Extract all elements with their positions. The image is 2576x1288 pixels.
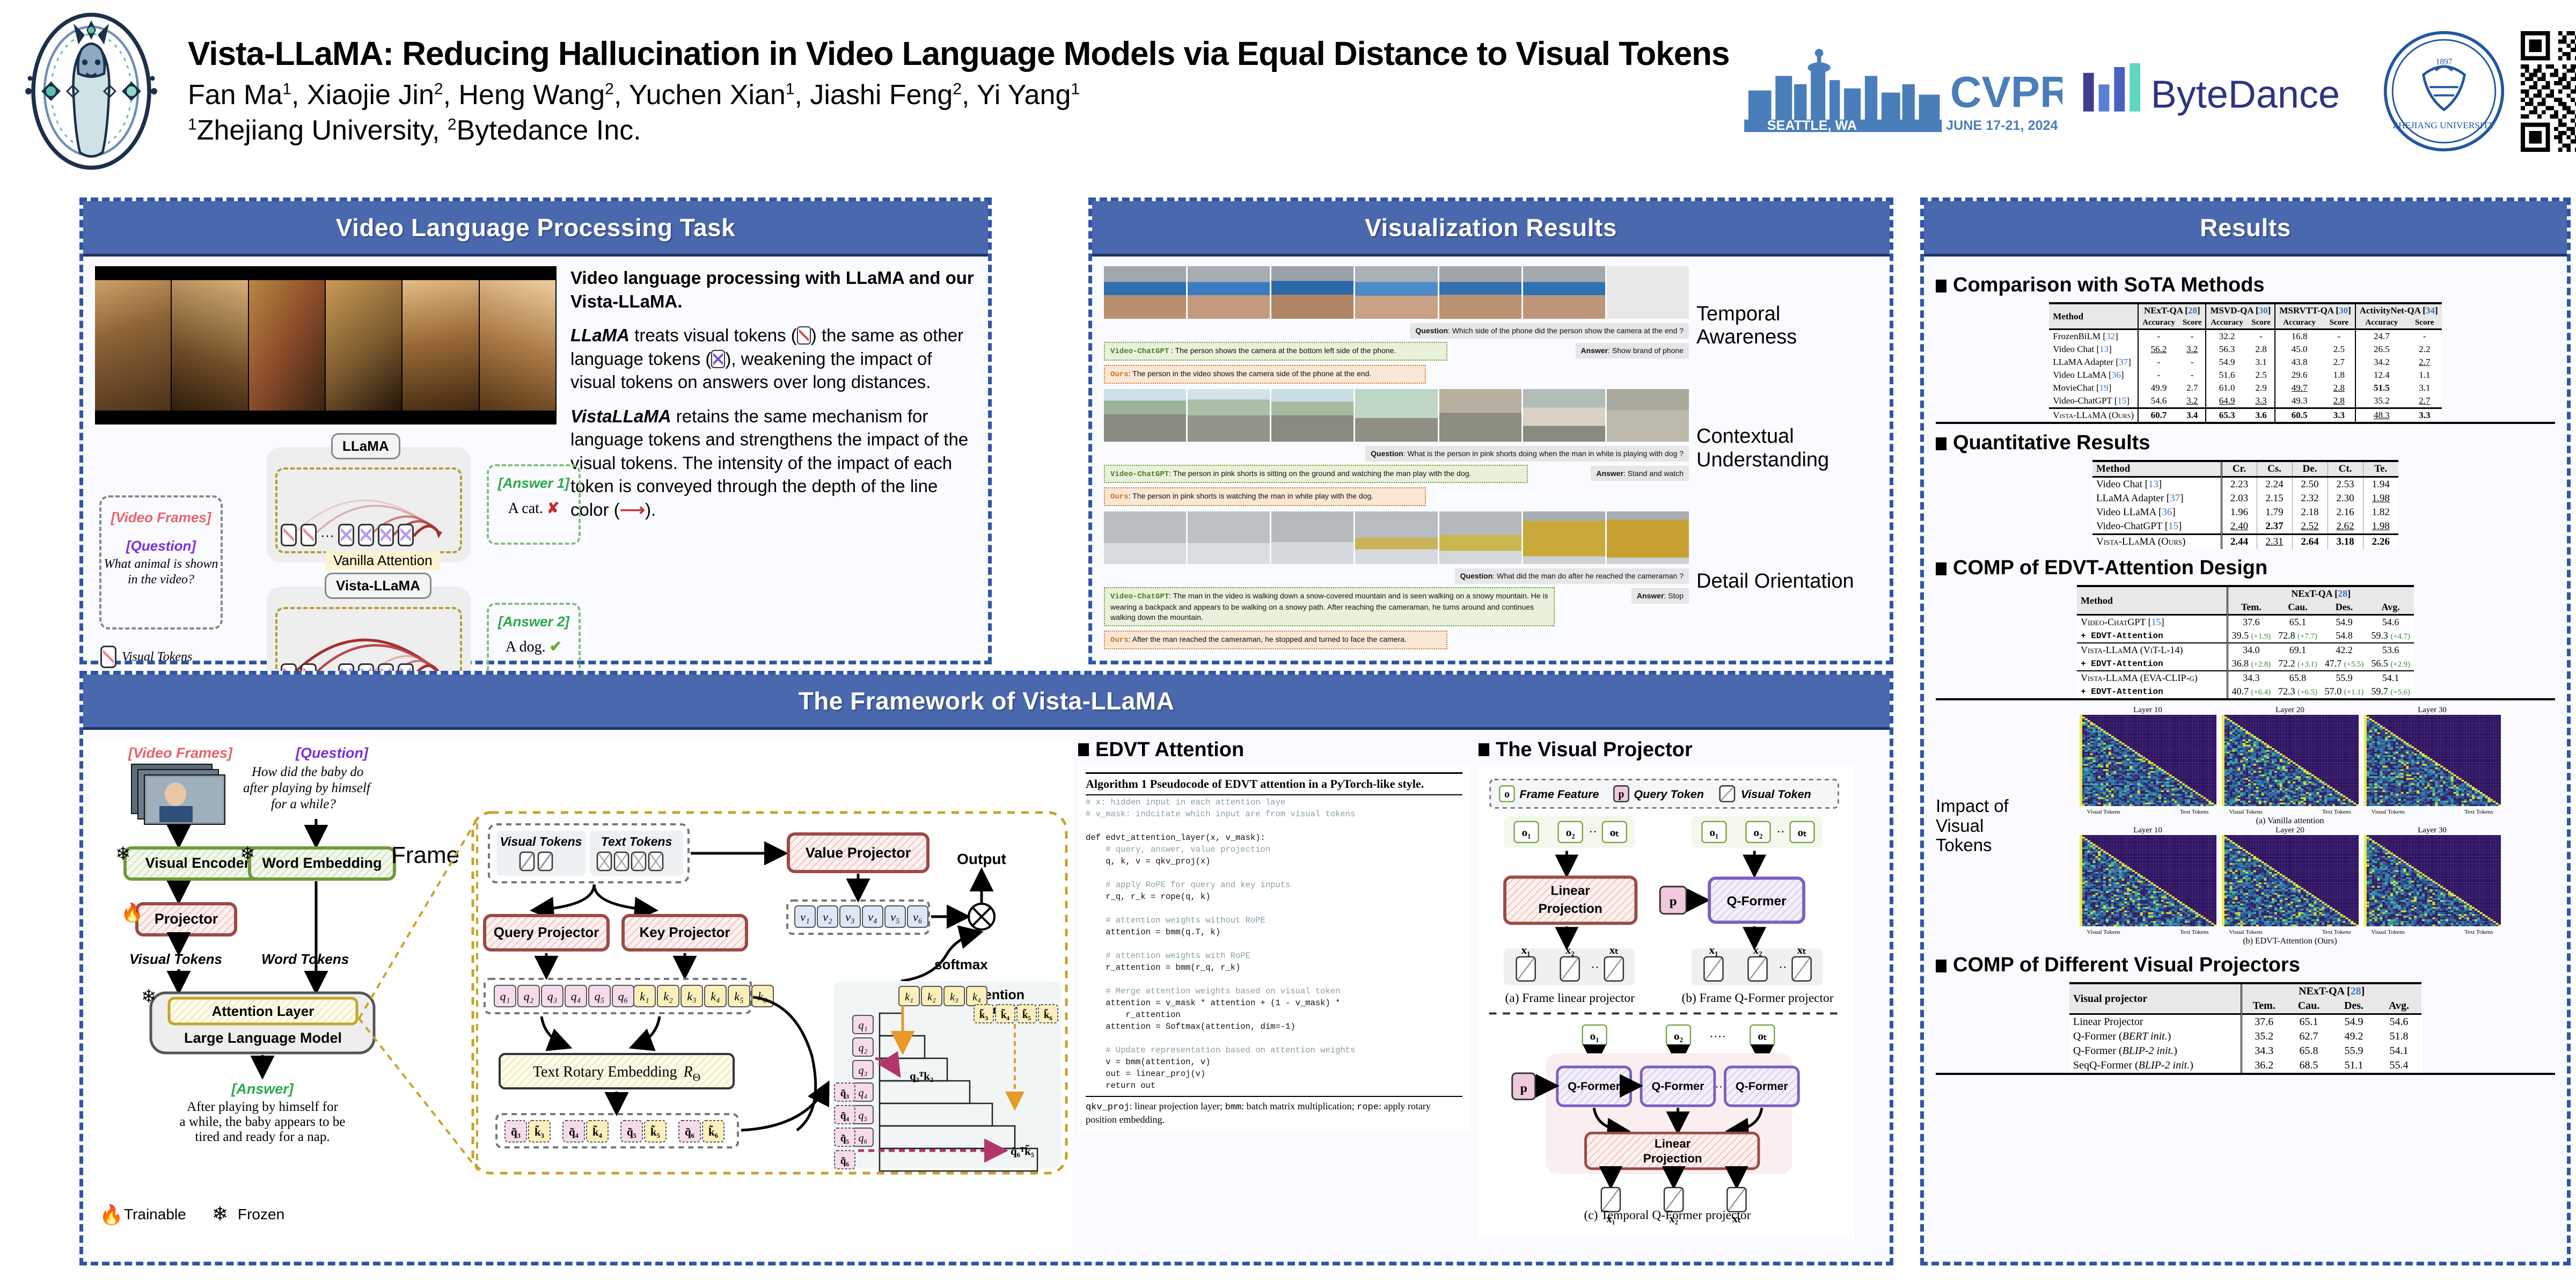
- example-1-question: Question: Which side of the phone did th…: [1410, 323, 1689, 339]
- check-mark-icon: ✔: [550, 639, 562, 655]
- heatmap-image: [2080, 835, 2216, 926]
- table-sota: MethodNExT-QA [28]MSVD-QA [30]MSRVTT-QA …: [1936, 302, 2555, 424]
- fw-llm: Large Language Model: [184, 1030, 342, 1046]
- fw-legend-trainable: Trainable: [124, 1206, 186, 1223]
- projector-caption-b: (b) Frame Q-Former projector: [1681, 991, 1833, 1005]
- table-row: SeqQ-Former (BLIP-2 init.)36.268.551.155…: [2069, 1058, 2421, 1073]
- bullet-square-icon: [1936, 437, 1946, 450]
- table-row: + EDVT-Attention39.5 (+1.9)72.8 (+7.7)54…: [2077, 629, 2414, 643]
- projector-svg: o Frame Feature p Query Token Visual Tok…: [1483, 770, 1850, 1232]
- llama-emphasis: LLaMA: [570, 325, 630, 345]
- bullet-square-icon: [1936, 562, 1946, 575]
- vanilla-token-row: ···: [281, 524, 414, 546]
- answer-1-label: [Answer 1]: [489, 475, 579, 492]
- example-2-frames: [1104, 389, 1689, 442]
- example-2-gpt-response: Video-ChatGPT: The person in pink shorts…: [1104, 465, 1528, 484]
- group-3: ActivityNet-QA [34]: [2355, 303, 2442, 317]
- example-3-gpt-response: Video-ChatGPT: The man in the video is w…: [1104, 587, 1555, 626]
- projector-table: Visual projectorNExT-QA [28]Tem.Cau.Des.…: [2069, 982, 2421, 1073]
- panel-title-visualization: Visualization Results: [1092, 201, 1890, 257]
- visualization-example-3: Question: What did the man do after he r…: [1104, 511, 1878, 651]
- example-1-answer: Answer: Show brand of phone: [1576, 343, 1689, 358]
- heatmap-caption-b: (b) EDVT-Attention (Ours): [2025, 936, 2555, 946]
- poster-root: Vista-LLaMA: Reducing Hallucination in V…: [0, 0, 2576, 1288]
- example-2-answer: Answer: Stand and watch: [1591, 466, 1689, 481]
- example-1-frames: [1104, 266, 1689, 319]
- legend-query-token: Query Token: [1634, 788, 1704, 801]
- task-paragraph-2: LLaMA treats visual tokens () the same a…: [570, 324, 976, 394]
- panel-body-framework: [Video Frames] [Question] How did the ba…: [83, 730, 1890, 1265]
- projector-figure: o Frame Feature p Query Token Visual Tok…: [1479, 766, 1854, 1239]
- table-row: Video-ChatGPT [15]54.63.264.93.349.32.83…: [2049, 394, 2441, 408]
- section-heading-projectors: COMP of Different Visual Projectors: [1936, 954, 2555, 977]
- quant-table: MethodCr.Cs.De.Ct.Te.Video Chat [13]2.23…: [2092, 460, 2398, 549]
- edvt-algorithm-block: EDVT Attention Algorithm 1 Pseudocode of…: [1078, 738, 1470, 1256]
- heatmap-image: [2364, 835, 2501, 926]
- fw-value-projector: Value Projector: [806, 845, 911, 861]
- vanilla-attention-group: LLaMA: [267, 447, 471, 562]
- task-paragraph-3: VistaLLaMA retains the same mechanism fo…: [570, 405, 976, 522]
- bullet-square-icon: [1936, 960, 1946, 972]
- section-heading-quant: Quantitative Results: [1936, 431, 2555, 455]
- fw-rotary-token-row: q̃₃k̃₃q̃₄k̃₄q̃₅k̃₅q̃₆k̃₆: [505, 1121, 724, 1142]
- bullet-square-icon: [1078, 743, 1089, 756]
- table-row: Vista-LLaMA (Ours)2.442.312.643.182.26: [2092, 535, 2398, 550]
- heatmap-image: [2222, 715, 2359, 806]
- example-3-tag: Detail Orientation: [1696, 570, 1857, 594]
- legend-visual-token: Visual Token: [1741, 788, 1811, 801]
- filmstrip-perforations-top: [95, 266, 557, 280]
- table-row: Vista-LLaMA (ViT-L-14)34.069.142.253.6: [2077, 643, 2414, 657]
- heatmap-row-vanilla: Layer 10Visual TokensText TokensLayer 20…: [2025, 706, 2555, 815]
- table-row: Video Chat [13]2.232.242.502.531.94: [2092, 477, 2398, 492]
- example-3-frames: [1104, 511, 1689, 564]
- table-row: MovieChat [19]49.92.761.02.949.72.851.53…: [2049, 382, 2441, 394]
- table-row: FrozenBiLM [32]--32.2-16.8-24.7-: [2049, 330, 2441, 343]
- task-description-column: Video language processing with LLaMA and…: [570, 266, 976, 710]
- cvpr-dates: JUNE 17-21, 2024: [1946, 118, 2058, 133]
- fw-text-tokens-2: Text Tokens: [601, 835, 672, 848]
- flame-icon: 🔥: [121, 902, 143, 923]
- filmstrip-perforations-bottom: [95, 411, 557, 425]
- panel-body-task: [Video Frames] [Question] What animal is…: [83, 257, 988, 720]
- example-2-ours-response: Ours: The person in pink shorts is watch…: [1104, 487, 1426, 506]
- dot-product-1: q₃ᵀk₂: [910, 1070, 933, 1082]
- example-3-answer: Answer: Stop: [1631, 588, 1689, 604]
- fw-word-embedding: Word Embedding: [262, 855, 382, 871]
- video-filmstrip: [95, 266, 557, 425]
- table-edvt-design: MethodNExT-QA [28]Tem.Cau.Des.Avg.Video-…: [1936, 585, 2555, 700]
- llama-box: LLaMA: [331, 433, 400, 459]
- vistallama-emphasis: VistaLLaMA: [570, 406, 671, 426]
- projector-caption-a: (a) Frame linear projector: [1505, 991, 1635, 1005]
- cross-mark-icon: ✘: [547, 500, 559, 517]
- impact-label: Impact of Visual Tokens: [1936, 796, 2022, 856]
- fw-word-tokens: Word Tokens: [261, 951, 349, 967]
- table-row: Q-Former (BERT init.)35.262.749.251.8: [2069, 1029, 2421, 1044]
- fw-query-token-row: q₁q₂q₃q₄q₅q₆: [494, 985, 634, 1007]
- visual-projector-block: The Visual Projector o: [1479, 738, 1854, 1256]
- algorithm-footnote: qkv_proj: linear projection layer; bmm: …: [1086, 1100, 1462, 1125]
- bullet-square-icon: [1479, 743, 1489, 756]
- flame-icon: 🔥: [99, 1204, 123, 1226]
- affiliation-list: 1Zhejiang University, 2Bytedance Inc.: [188, 114, 1730, 147]
- bytedance-text: ByteDance: [2150, 74, 2339, 116]
- table-row: Vista-LLaMA (Ours)60.73.465.33.660.53.34…: [2049, 408, 2441, 422]
- heatmap-image: [2364, 715, 2501, 806]
- logo-group: CVPR SEATTLE, WA JUNE 17-21, 2024 ByteDa…: [1730, 30, 2576, 153]
- heatmap-axis: Visual TokensText Tokens: [2080, 809, 2216, 815]
- heatmap-layer-title: Layer 20: [2222, 826, 2359, 835]
- attention-comparison-diagram: [Video Frames] [Question] What animal is…: [95, 431, 557, 710]
- table-visual-projectors: Visual projectorNExT-QA [28]Tem.Cau.Des.…: [1936, 982, 2555, 1075]
- heatmap-axis: Visual TokensText Tokens: [2364, 809, 2501, 815]
- answer-1-text: A cat.: [508, 500, 543, 517]
- heatmap-image: [2080, 715, 2216, 806]
- framework-diagram: [Video Frames] [Question] How did the ba…: [91, 738, 1073, 1256]
- answer-2-text: A dog.: [506, 639, 546, 655]
- fw-value-token-row: v₁v₂v₃v₄v₅v₆: [795, 906, 928, 927]
- question-label: [Question]: [101, 538, 221, 554]
- panel-results: Results Comparison with SoTA Methods Met…: [1920, 197, 2571, 1265]
- example-1-ours-response: Ours: The person in the video shows the …: [1104, 365, 1426, 384]
- heatmap-layer-title: Layer 10: [2080, 706, 2216, 715]
- fw-video-frames-thumbs: [131, 764, 225, 824]
- page-title: Vista-LLaMA: Reducing Hallucination in V…: [188, 36, 1730, 72]
- heatmap-axis: Visual TokensText Tokens: [2222, 809, 2359, 815]
- zju-year: 1897: [2435, 57, 2452, 67]
- heatmap-row-edvt: Layer 10Visual TokensText TokensLayer 20…: [2025, 826, 2555, 935]
- table-row: + EDVT-Attention40.7 (+6.4)72.3 (+6.5)57…: [2077, 685, 2414, 698]
- table-row: Video Chat [13]56.23.256.32.845.02.526.5…: [2049, 343, 2441, 356]
- group-0: NExT-QA [28]: [2138, 303, 2206, 317]
- section-heading-sota: Comparison with SoTA Methods: [1936, 274, 2555, 297]
- question-text: What animal is shown in the video?: [101, 557, 221, 588]
- snowflake-icon: ❄: [141, 986, 157, 1007]
- fw-visual-encoder: Visual Encoder: [145, 855, 250, 871]
- snowflake-icon: ❄: [212, 1203, 228, 1225]
- title-block: Vista-LLaMA: Reducing Hallucination in V…: [188, 36, 1730, 147]
- heatmap-cell: Layer 10Visual TokensText Tokens: [2080, 706, 2216, 815]
- bytedance-logo-icon: ByteDance: [2077, 59, 2367, 123]
- panel-framework: The Framework of Vista-LLaMA: [79, 671, 1893, 1265]
- task-figure-column: [Video Frames] [Question] What animal is…: [95, 266, 557, 710]
- example-3-ours-response: Ours: After the man reached the camerama…: [1104, 631, 1447, 649]
- algorithm-code: # x: hidden input in each attention laye…: [1086, 796, 1462, 1092]
- heatmap-cell: Layer 30Visual TokensText Tokens: [2364, 706, 2501, 815]
- algorithm-card: Algorithm 1 Pseudocode of EDVT attention…: [1078, 766, 1470, 1131]
- algorithm-caption: Algorithm 1 Pseudocode of EDVT attention…: [1086, 777, 1462, 791]
- text-token-inline-icon: [711, 350, 725, 368]
- heatmap-layer-title: Layer 30: [2364, 826, 2501, 835]
- vista-llama-box: Vista-LLaMA: [325, 573, 431, 599]
- fw-key-token-row: k₁k₂k₃k₄k₅k₆: [634, 985, 773, 1007]
- panel-title-framework: The Framework of Vista-LLaMA: [83, 675, 1890, 730]
- table-quantitative: MethodCr.Cs.De.Ct.Te.Video Chat [13]2.23…: [1936, 460, 2555, 549]
- group-2: MSRVTT-QA [30]: [2275, 303, 2355, 317]
- visualization-example-2: Question: What is the person in pink sho…: [1104, 389, 1878, 509]
- zju-logo-icon: ZHEJIANG UNIVERSITY 1897: [2382, 30, 2506, 153]
- table-row: Video-ChatGPT [15]37.665.154.954.6: [2077, 615, 2414, 630]
- panel-title-task: Video Language Processing Task: [83, 201, 988, 257]
- panel-body-visualization: Question: Which side of the phone did th…: [1092, 257, 1890, 664]
- edvt-table: MethodNExT-QA [28]Tem.Cau.Des.Avg.Video-…: [2077, 585, 2414, 698]
- line-color-arrow-icon: ⟶: [620, 500, 645, 519]
- projector-caption-c: (c) Temporal Q-Former projector: [1584, 1208, 1751, 1222]
- fw-key-projector: Key Projector: [639, 924, 730, 940]
- table-row: LLaMA Adapter [37]--54.93.143.82.734.22.…: [2049, 356, 2441, 369]
- panel-body-results: Comparison with SoTA Methods MethodNExT-…: [1924, 257, 2567, 1085]
- legend-visual-label: Visual Tokens: [122, 650, 192, 664]
- qr-code-icon[interactable]: [2521, 31, 2576, 152]
- panel-visualization-results: Visualization Results Question: Whi: [1088, 197, 1893, 664]
- snowflake-icon: ❄: [115, 844, 131, 864]
- fw-video-frames-label: [Video Frames]: [128, 745, 233, 761]
- col-method: Method: [2049, 303, 2138, 330]
- fw-legend-frozen: Frozen: [238, 1206, 284, 1223]
- impact-visual-tokens-block: Impact of Visual Tokens Layer 10Visual T…: [1936, 706, 2555, 946]
- table-row: LLaMA Adapter [37]2.032.152.322.301.98: [2092, 492, 2398, 506]
- heatmap-image: [2222, 835, 2359, 926]
- heatmap-layer-title: Layer 10: [2080, 826, 2216, 835]
- example-2-tag: Contextual Understanding: [1696, 425, 1857, 472]
- table-row: Vista-LLaMA (EVA-CLIP-g)34.365.855.954.1: [2077, 671, 2414, 685]
- fw-visual-tokens-2: Visual Tokens: [500, 835, 582, 848]
- panel-title-results: Results: [1924, 201, 2567, 257]
- fw-projector: Projector: [155, 911, 218, 927]
- answer-1-box: [Answer 1] A cat. ✘: [487, 464, 581, 545]
- heatmap-axis: Visual TokensText Tokens: [2364, 929, 2501, 935]
- fw-softmax-label: softmax: [934, 956, 988, 972]
- table-row: Q-Former (BLIP-2 init.)34.365.855.954.1: [2069, 1044, 2421, 1058]
- heatmap-cell: Layer 20Visual TokensText Tokens: [2222, 826, 2359, 935]
- table-row: Linear Projector37.665.154.954.6: [2069, 1014, 2421, 1030]
- fw-output-label: Output: [957, 851, 1006, 867]
- framework-svg: [Video Frames] [Question] How did the ba…: [91, 738, 1073, 1254]
- heatmap-cell: Layer 20Visual TokensText Tokens: [2222, 706, 2359, 815]
- cvpr-text: CVPR: [1950, 68, 2062, 116]
- framework-right-column: EDVT Attention Algorithm 1 Pseudocode of…: [1078, 738, 1882, 1256]
- fw-attention-layer: Attention Layer: [212, 1003, 314, 1019]
- input-box: [Video Frames] [Question] What animal is…: [99, 495, 223, 630]
- llama-logo-icon: [11, 11, 172, 172]
- answer-2-label: [Answer 2]: [489, 613, 579, 630]
- fw-query-projector: Query Projector: [494, 924, 599, 940]
- cvpr-city: SEATTLE, WA: [1767, 118, 1856, 133]
- heatmap-axis: Visual TokensText Tokens: [2222, 929, 2359, 935]
- task-paragraph-1: Video language processing with LLaMA and…: [570, 266, 976, 313]
- heatmap-cell: Layer 10Visual TokensText Tokens: [2080, 826, 2216, 935]
- table-row: Video LLaMA [36]--51.62.529.61.812.41.1: [2049, 369, 2441, 382]
- bullet-square-icon: [1936, 280, 1946, 292]
- zju-name: ZHEJIANG UNIVERSITY: [2392, 120, 2495, 130]
- heatmap-layer-title: Layer 30: [2364, 706, 2501, 715]
- algorithm-heading: EDVT Attention: [1078, 738, 1470, 762]
- fw-answer-label: [Answer]: [231, 1081, 294, 1097]
- visual-token-icon: [100, 646, 116, 668]
- heatmap-caption-a: (a) Vanilla attention: [2025, 816, 2555, 826]
- example-1-gpt-response: Video-ChatGPT : The person shows the cam…: [1104, 342, 1447, 361]
- example-3-question: Question: What did the man do after he r…: [1455, 568, 1689, 584]
- visual-token-inline-icon: [797, 326, 811, 345]
- vanilla-attention-label: Vanilla Attention: [326, 551, 440, 570]
- attention-heatmap-grid: Layer 10Visual TokensText TokensLayer 20…: [2025, 706, 2555, 946]
- heatmap-cell: Layer 30Visual TokensText Tokens: [2364, 826, 2501, 935]
- example-2-question: Question: What is the person in pink sho…: [1365, 446, 1689, 462]
- video-frames-label: [Video Frames]: [101, 509, 221, 526]
- fw-question-label: [Question]: [295, 745, 369, 761]
- poster-header: Vista-LLaMA: Reducing Hallucination in V…: [0, 0, 2576, 182]
- fw-rotary-label: Text Rotary Embedding: [533, 1064, 677, 1080]
- legend-frame-feature: Frame Feature: [1519, 788, 1599, 801]
- visualization-example-1: Question: Which side of the phone did th…: [1104, 266, 1878, 386]
- example-1-tag: Temporal Awareness: [1696, 303, 1857, 349]
- section-heading-edvt: COMP of EDVT-Attention Design: [1936, 557, 2555, 580]
- group-1: MSVD-QA [30]: [2206, 303, 2275, 317]
- table-row: + EDVT-Attention36.8 (+2.8)72.2 (+3.1)47…: [2077, 657, 2414, 671]
- table-row: Video-ChatGPT [15]2.402.372.522.621.98: [2092, 519, 2398, 535]
- heatmap-axis: Visual TokensText Tokens: [2080, 929, 2216, 935]
- sota-table: MethodNExT-QA [28]MSVD-QA [30]MSRVTT-QA …: [2049, 302, 2441, 422]
- author-list: Fan Ma1, Xiaojie Jin2, Heng Wang2, Yuche…: [188, 79, 1730, 111]
- dot-product-2: q̃₆ᵀk̃₅: [1011, 1145, 1034, 1158]
- snowflake-icon: ❄: [240, 844, 255, 864]
- panel-video-language-task: Video Language Processing Task: [79, 197, 992, 664]
- fw-visual-tokens: Visual Tokens: [129, 951, 222, 967]
- cvpr-logo-icon: CVPR SEATTLE, WA JUNE 17-21, 2024: [1730, 45, 2062, 138]
- heatmap-layer-title: Layer 20: [2222, 706, 2359, 715]
- filmstrip-frames: [95, 280, 557, 411]
- table-row: Video LLaMA [36]1.961.792.182.161.82: [2092, 506, 2398, 519]
- projector-heading: The Visual Projector: [1479, 738, 1854, 762]
